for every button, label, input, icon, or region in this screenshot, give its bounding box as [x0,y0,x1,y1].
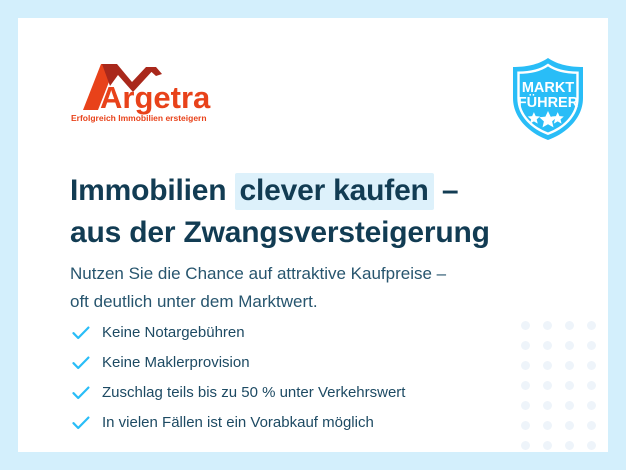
decorative-dot [587,441,596,450]
decorative-dot [565,441,574,450]
decorative-dot [565,341,574,350]
decorative-dot [565,421,574,430]
headline-highlight: clever kaufen [235,173,434,210]
benefits-list: Keine NotargebührenKeine Maklerprovision… [72,318,542,438]
decorative-dot [587,381,596,390]
list-item-label: Zuschlag teils bis zu 50 % unter Verkehr… [102,384,405,402]
decorative-dot [543,401,552,410]
check-icon [72,414,102,432]
decorative-dot [543,381,552,390]
list-item: In vielen Fällen ist ein Vorabkauf mögli… [72,408,542,438]
headline-line-1: Immobilien clever kaufen – [70,172,570,210]
decorative-dot [565,401,574,410]
badge-line-1: MARKT [522,80,574,96]
page-title: Immobilien clever kaufen – aus der Zwang… [70,172,570,252]
decorative-dot [587,401,596,410]
decorative-dot [587,341,596,350]
list-item: Keine Maklerprovision [72,348,542,378]
decorative-dot [521,441,530,450]
list-item-label: Keine Notargebühren [102,324,245,342]
list-item-label: In vielen Fällen ist ein Vorabkauf mögli… [102,414,374,432]
decorative-dot [565,321,574,330]
headline-text-before: Immobilien [70,174,235,207]
subtitle-line-2: oft deutlich unter dem Marktwert. [70,288,570,316]
list-item: Zuschlag teils bis zu 50 % unter Verkehr… [72,378,542,408]
badge-line-2: FÜHRER [518,94,579,111]
check-icon [72,384,102,402]
check-icon [72,354,102,372]
check-icon [72,324,102,342]
promo-card: Argetra Erfolgreich Immobilien ersteiger… [18,18,608,452]
argetra-logo: Argetra Erfolgreich Immobilien ersteiger… [70,62,220,124]
decorative-dot [587,361,596,370]
decorative-dot [587,321,596,330]
decorative-dot [543,361,552,370]
decorative-dot [543,321,552,330]
list-item: Keine Notargebühren [72,318,542,348]
subtitle-line-1: Nutzen Sie die Chance auf attraktive Kau… [70,260,570,288]
svg-text:Argetra: Argetra [100,80,211,115]
decorative-dot [543,441,552,450]
list-item-label: Keine Maklerprovision [102,354,250,372]
decorative-dot [587,421,596,430]
decorative-dot [543,341,552,350]
markt-fuehrer-badge: MARKT FÜHRER [505,56,591,142]
decorative-dot [543,421,552,430]
decorative-dot [565,381,574,390]
decorative-dot [565,361,574,370]
headline-text-after: – [434,174,459,207]
logo-tagline: Erfolgreich Immobilien ersteigern [71,113,207,123]
outer-frame: Argetra Erfolgreich Immobilien ersteiger… [0,0,626,470]
subtitle: Nutzen Sie die Chance auf attraktive Kau… [70,260,570,316]
headline-line-2: aus der Zwangsversteigerung [70,214,570,252]
